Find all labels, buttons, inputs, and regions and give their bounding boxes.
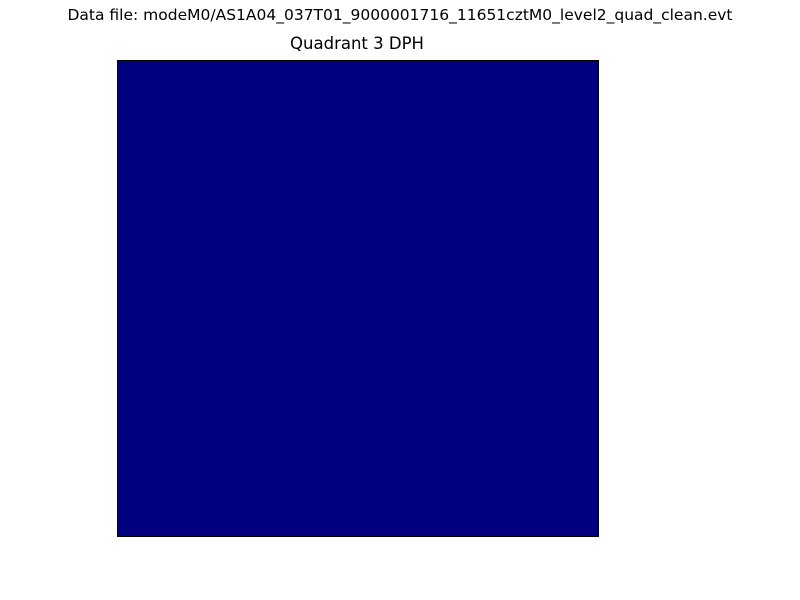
y-axis-tick-marks — [113, 60, 119, 535]
x-axis-tick-marks — [117, 531, 597, 537]
heatmap-image[interactable] — [118, 61, 598, 536]
colorbar[interactable] — [626, 60, 650, 536]
heatmap-plot-area[interactable] — [117, 60, 599, 537]
x-axis-tick-labels — [117, 541, 597, 561]
page-title: Quadrant 3 DPH — [117, 33, 597, 55]
colorbar-gradient — [626, 60, 650, 536]
figure-canvas: Data file: modeM0/AS1A04_037T01_90000017… — [0, 0, 800, 600]
colorbar-tick-labels — [652, 60, 712, 536]
data-file-suptitle: Data file: modeM0/AS1A04_037T01_90000017… — [0, 5, 800, 25]
y-axis-tick-labels — [58, 60, 110, 535]
